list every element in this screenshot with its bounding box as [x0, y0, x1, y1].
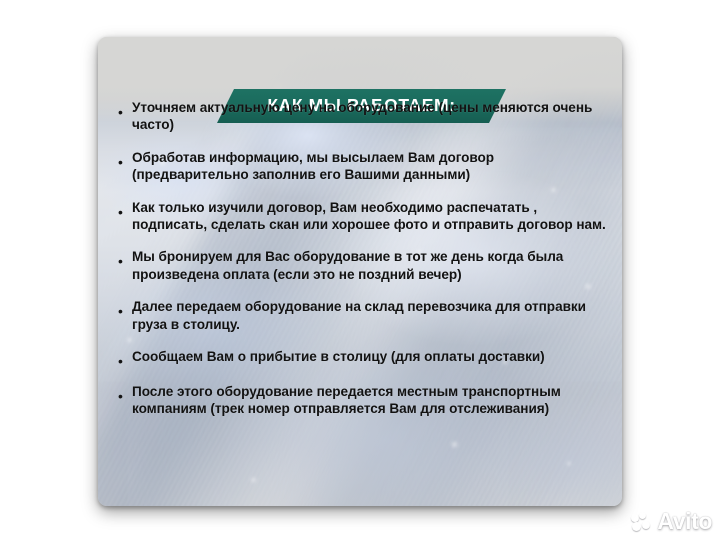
list-item: • Мы бронируем для Вас оборудование в то…	[118, 248, 610, 283]
bullet-dot-icon: •	[118, 99, 132, 119]
avito-watermark: Avito	[631, 510, 712, 533]
list-item-text: Сообщаем Вам о прибытие в столицу (для о…	[132, 348, 610, 365]
info-card: КАК МЫ РАБОТАЕМ: • Уточняем актуальную ц…	[98, 37, 622, 506]
list-item-text: Далее передаем оборудование на склад пер…	[132, 298, 610, 333]
screenshot-root: КАК МЫ РАБОТАЕМ: • Уточняем актуальную ц…	[0, 0, 720, 540]
list-item: • Сообщаем Вам о прибытие в столицу (для…	[118, 348, 610, 368]
list-item-text: Как только изучили договор, Вам необходи…	[132, 199, 610, 234]
steps-list: • Уточняем актуальную цену на оборудован…	[118, 99, 610, 418]
list-item-text: Мы бронируем для Вас оборудование в тот …	[132, 248, 610, 283]
list-item-text: Обработав информацию, мы высылаем Вам до…	[132, 149, 610, 184]
list-item: • Далее передаем оборудование на склад п…	[118, 298, 610, 333]
bullet-dot-icon: •	[118, 348, 132, 368]
bullet-dot-icon: •	[118, 383, 132, 403]
bullet-dot-icon: •	[118, 248, 132, 268]
avito-wordmark: Avito	[657, 510, 712, 533]
bullet-dot-icon: •	[118, 149, 132, 169]
list-item-text: Уточняем актуальную цену на оборудование…	[132, 99, 610, 134]
list-item: • Как только изучили договор, Вам необхо…	[118, 199, 610, 234]
list-item: • После этого оборудование передается ме…	[118, 383, 610, 418]
list-item: • Обработав информацию, мы высылаем Вам …	[118, 149, 610, 184]
list-item: • Уточняем актуальную цену на оборудован…	[118, 99, 610, 134]
bullet-dot-icon: •	[118, 298, 132, 318]
avito-dots-icon	[631, 512, 653, 532]
list-item-text: После этого оборудование передается мест…	[132, 383, 610, 418]
bullet-dot-icon: •	[118, 199, 132, 219]
